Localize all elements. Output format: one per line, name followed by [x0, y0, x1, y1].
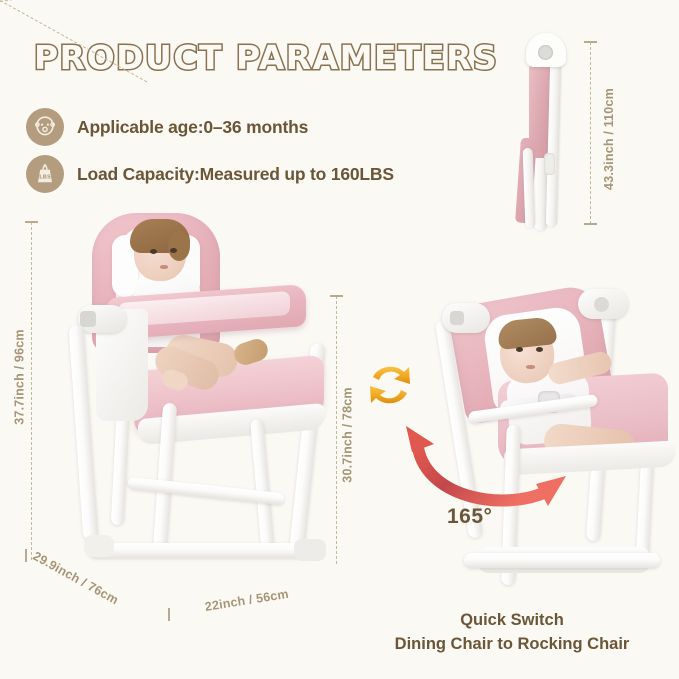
weight-lbs-icon: LBS: [26, 155, 64, 193]
chair-foot-left: [84, 535, 114, 557]
chair-support-leg: [250, 419, 275, 556]
dimension-line-seat-height: [336, 296, 337, 564]
rocking-bottom-crossbar: [464, 553, 660, 568]
feature-caption: Quick Switch Dining Chair to Rocking Cha…: [362, 609, 662, 657]
chair-front-left-leg: [69, 325, 99, 541]
chair-foot-right: [294, 539, 326, 561]
dimension-label-width: 22inch / 56cm: [204, 587, 290, 614]
caption-line-1: Quick Switch: [362, 609, 662, 633]
dimension-line-total-height: [31, 222, 32, 560]
folded-chair-image: [510, 33, 582, 228]
dimension-label-folded-height: 43.3inch / 110cm: [602, 88, 616, 190]
baby-hair-side: [168, 231, 190, 261]
folded-lock-clip: [544, 153, 555, 175]
dimension-tick-total-height-top: [25, 221, 38, 223]
product-parameters-infographic: PRODUCT PARAMETERS Applicable age:0–36 m…: [0, 0, 679, 679]
baby-face-icon: [26, 108, 64, 146]
dimension-label-seat-height: 30.7inch / 78cm: [341, 387, 355, 482]
rocking-adjust-knob-right-icon: [594, 297, 609, 312]
baby-mouth: [160, 265, 168, 269]
spec-label-applicable-age: Applicable age:0–36 months: [77, 117, 308, 138]
rocking-baby-eye-left: [516, 347, 523, 352]
chair-bottom-crossbar: [88, 543, 316, 558]
spec-row-load-capacity: LBS Load Capacity:Measured up to 160LBS: [26, 155, 394, 193]
dimension-tick-folded-top: [584, 41, 597, 43]
dimension-tick-folded-bottom: [584, 223, 597, 225]
baby-eye-left: [150, 249, 157, 254]
rocking-range-arrow-icon: [398, 420, 588, 530]
caption-line-2: Dining Chair to Rocking Chair: [362, 633, 662, 657]
dimension-tick-width: [168, 608, 170, 621]
svg-text:LBS: LBS: [39, 175, 51, 181]
dimension-tick-depth: [25, 549, 27, 562]
rocking-baby-mouth: [526, 365, 535, 369]
dimension-label-total-height: 37.7inch / 96cm: [13, 329, 27, 424]
dimension-tick-seat-height-top: [330, 295, 343, 297]
high-chair-image: [58, 213, 358, 588]
dimension-line-width: [0, 0, 180, 2]
rocking-angle-label: 165°: [447, 505, 492, 529]
baby-eye-right: [170, 248, 177, 253]
spec-row-applicable-age: Applicable age:0–36 months: [26, 108, 308, 146]
chair-recline-button-icon: [80, 311, 96, 327]
rocking-baby-eye-right: [536, 347, 543, 352]
dimension-line-folded-height: [590, 42, 591, 224]
rocking-adjust-button-left-icon: [450, 311, 464, 325]
spec-label-load-capacity: Load Capacity:Measured up to 160LBS: [77, 164, 394, 185]
folded-adjust-knob-icon: [538, 45, 553, 60]
